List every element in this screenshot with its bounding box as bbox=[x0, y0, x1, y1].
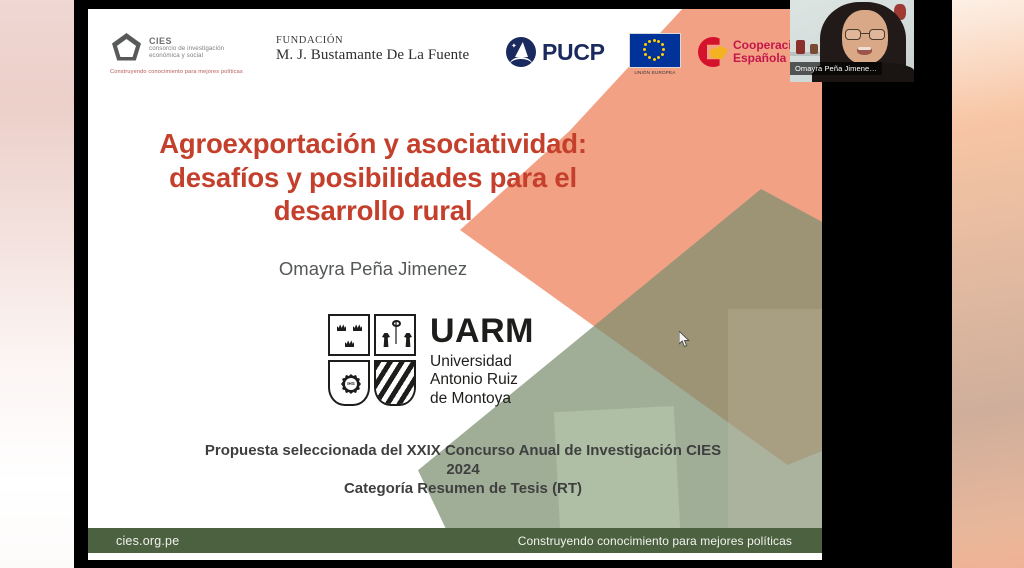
eu-star-icon bbox=[653, 58, 656, 61]
uarm-name-line-3: de Montoya bbox=[430, 390, 534, 408]
footer-website: cies.org.pe bbox=[116, 534, 179, 548]
eu-star-icon bbox=[657, 56, 660, 59]
sponsor-logo-row: CIES consorcio de investigación económic… bbox=[88, 25, 822, 89]
participant-video-tile[interactable]: Omayra Peña Jimene… bbox=[790, 0, 914, 82]
footer-slogan: Construyendo conocimiento para mejores p… bbox=[518, 534, 792, 548]
slide-footnote: Propuesta seleccionada del XXIX Concurso… bbox=[118, 441, 808, 499]
cies-logo-tagline: Construyendo conocimiento para mejores p… bbox=[110, 69, 290, 75]
slide-footer-bar: cies.org.pe Construyendo conocimiento pa… bbox=[88, 528, 822, 553]
pucp-logo: ✦ PUCP bbox=[506, 37, 605, 67]
eu-star-icon bbox=[661, 43, 664, 46]
footnote-line-3: Categoría Resumen de Tesis (RT) bbox=[118, 479, 808, 498]
eu-star-icon bbox=[662, 48, 665, 51]
cies-logo: CIES consorcio de investigación económic… bbox=[110, 31, 224, 65]
cies-pentagon-icon bbox=[110, 31, 144, 65]
page-margin-left bbox=[0, 0, 74, 568]
cooperacion-c-icon bbox=[698, 37, 728, 67]
eu-star-icon bbox=[653, 39, 656, 42]
eu-flag-icon bbox=[629, 33, 681, 68]
glasses-icon bbox=[844, 29, 886, 40]
slide-footer-strip bbox=[88, 553, 822, 560]
video-decor-object bbox=[796, 40, 805, 54]
slide-author: Omayra Peña Jimenez bbox=[114, 258, 632, 280]
page-margin-right bbox=[952, 0, 1024, 568]
pucp-emblem-icon: ✦ bbox=[506, 37, 536, 67]
eu-star-icon bbox=[661, 53, 664, 56]
participant-teeth bbox=[858, 47, 871, 50]
uarm-name-line-1: Universidad bbox=[430, 353, 534, 371]
eu-star-icon bbox=[648, 40, 651, 43]
slide-title: Agroexportación y asociatividad: desafío… bbox=[114, 127, 632, 228]
eu-star-icon bbox=[644, 53, 647, 56]
video-decor-object bbox=[810, 44, 818, 54]
uarm-logo: IHS UARM Universidad Antonio Ruiz de Mon… bbox=[328, 314, 534, 408]
uarm-acronym: UARM bbox=[430, 314, 534, 348]
fundacion-label: FUNDACIÓN bbox=[276, 35, 469, 46]
european-union-logo: UNIÓN EUROPEA bbox=[629, 33, 681, 75]
footnote-line-2: 2024 bbox=[118, 460, 808, 479]
cies-logo-subtitle-2: económica y social bbox=[149, 53, 224, 60]
slide-canvas[interactable]: CIES consorcio de investigación económic… bbox=[88, 9, 822, 560]
eu-star-icon bbox=[657, 40, 660, 43]
uarm-shield-motto: IHS bbox=[345, 381, 357, 386]
mouse-cursor bbox=[679, 331, 691, 348]
uarm-shield-icon: IHS bbox=[328, 314, 416, 406]
fundacion-name: M. J. Bustamante De La Fuente bbox=[276, 47, 469, 64]
eu-star-icon bbox=[643, 48, 646, 51]
participant-name-label: Omayra Peña Jimene… bbox=[790, 62, 882, 75]
eu-flag-caption: UNIÓN EUROPEA bbox=[629, 70, 681, 75]
eu-star-icon bbox=[644, 43, 647, 46]
pucp-wordmark: PUCP bbox=[542, 39, 605, 66]
eu-star-icon bbox=[648, 56, 651, 59]
fundacion-logo: FUNDACIÓN M. J. Bustamante De La Fuente bbox=[276, 35, 469, 64]
footnote-line-1: Propuesta seleccionada del XXIX Concurso… bbox=[118, 441, 808, 460]
slide-content: CIES consorcio de investigación económic… bbox=[88, 9, 822, 560]
screen: CIES consorcio de investigación económic… bbox=[0, 0, 1024, 568]
uarm-name-line-2: Antonio Ruiz bbox=[430, 371, 534, 389]
